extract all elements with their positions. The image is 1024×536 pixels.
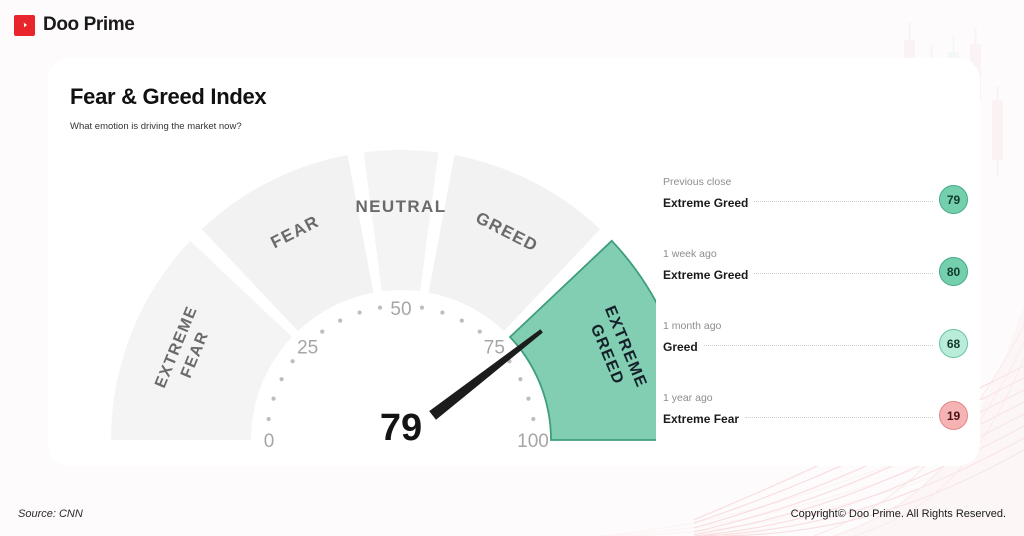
reading-score-badge: 68 — [939, 329, 968, 358]
reading-period: 1 week ago — [663, 248, 968, 260]
gauge-tick — [518, 377, 522, 381]
gauge-tick — [290, 359, 294, 363]
gauge-tick — [420, 306, 424, 310]
gauge-tick — [338, 319, 342, 323]
fear-greed-gauge: EXTREMEFEARFEARNEUTRALGREEDEXTREMEGREED … — [56, 140, 656, 460]
gauge-tick — [271, 396, 275, 400]
reading-dot-leader — [754, 201, 933, 202]
gauge-chart: EXTREMEFEARFEARNEUTRALGREEDEXTREMEGREED … — [56, 140, 656, 460]
brand-logo: Doo Prime — [14, 14, 134, 36]
gauge-scale-label: 75 — [484, 338, 505, 359]
historical-readings-list: Previous closeExtreme Greed791 week agoE… — [663, 176, 968, 464]
source-attribution: Source: CNN — [18, 508, 83, 520]
reading-label: Extreme Greed — [663, 268, 748, 282]
reading-period: Previous close — [663, 176, 968, 188]
reading-score-badge: 19 — [939, 401, 968, 430]
gauge-tick — [267, 417, 271, 421]
gauge-scale-label: 50 — [390, 299, 411, 320]
reading-row: 1 week agoExtreme Greed80 — [663, 248, 968, 320]
gauge-tick — [280, 377, 284, 381]
reading-row: 1 year agoExtreme Fear19 — [663, 392, 968, 464]
gauge-segment-label: NEUTRAL — [355, 197, 446, 216]
doo-prime-logo-icon — [14, 15, 35, 36]
reading-label: Extreme Greed — [663, 196, 748, 210]
gauge-scale-label: 100 — [517, 431, 549, 452]
reading-row: Previous closeExtreme Greed79 — [663, 176, 968, 248]
reading-label: Greed — [663, 340, 698, 354]
reading-period: 1 year ago — [663, 392, 968, 404]
gauge-tick — [357, 310, 361, 314]
gauge-scale-label: 25 — [297, 338, 318, 359]
gauge-tick — [531, 417, 535, 421]
reading-score-badge: 80 — [939, 257, 968, 286]
gauge-scale-label: 0 — [264, 431, 275, 452]
gauge-tick — [478, 329, 482, 333]
reading-period: 1 month ago — [663, 320, 968, 332]
reading-dot-leader — [745, 417, 933, 418]
gauge-value: 79 — [380, 407, 422, 449]
gauge-tick — [526, 396, 530, 400]
reading-label: Extreme Fear — [663, 412, 739, 426]
fear-greed-card: Fear & Greed Index What emotion is drivi… — [48, 58, 980, 466]
page-root: Doo Prime Fear & Greed Index What emotio… — [0, 0, 1024, 536]
reading-dot-leader — [754, 273, 933, 274]
page-title: Fear & Greed Index — [70, 84, 266, 110]
copyright-notice: Copyright© Doo Prime. All Rights Reserve… — [791, 508, 1006, 520]
brand-name: Doo Prime — [43, 14, 134, 36]
reading-row: 1 month agoGreed68 — [663, 320, 968, 392]
gauge-tick — [378, 306, 382, 310]
gauge-segment — [364, 150, 439, 291]
reading-dot-leader — [704, 345, 933, 346]
page-subtitle: What emotion is driving the market now? — [70, 121, 242, 132]
gauge-tick — [320, 329, 324, 333]
reading-score-badge: 79 — [939, 185, 968, 214]
gauge-tick — [440, 310, 444, 314]
gauge-tick — [460, 319, 464, 323]
